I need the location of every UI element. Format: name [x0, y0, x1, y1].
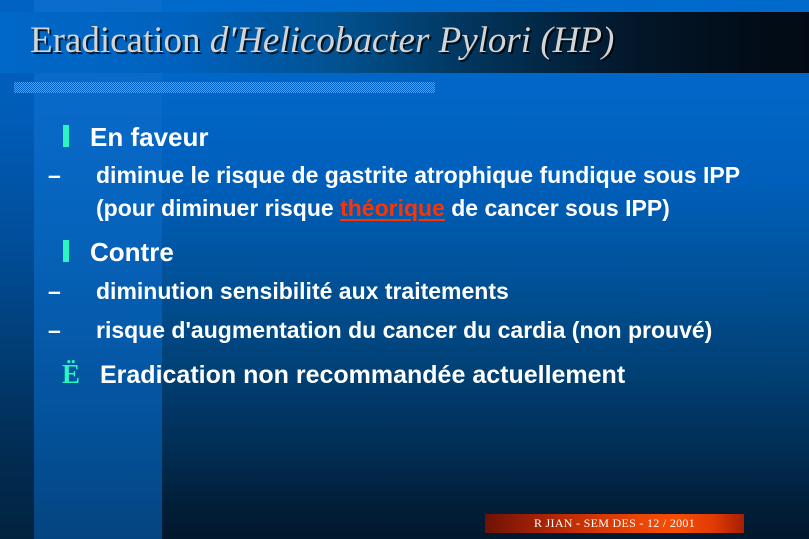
list-item: –risque d'augmentation du cancer du card…: [0, 314, 809, 347]
slide-title-lead: Eradication: [30, 20, 210, 61]
list-item: –diminution sensibilité aux traitements: [0, 275, 809, 308]
section-heading-label: En faveur: [90, 118, 209, 156]
slide-canvas: Eradication d'Helicobacter Pylori (HP) E…: [0, 0, 809, 539]
list-item: –diminue le risque de gastrite atrophiqu…: [0, 159, 809, 225]
section-heading-contre: Contre: [0, 233, 809, 271]
list-item-text-part: diminution sensibilité aux traitements: [96, 278, 509, 304]
section-heading-label: Contre: [90, 233, 174, 271]
dash-bullet-icon: –: [72, 159, 96, 192]
bar-bullet-icon: [63, 125, 69, 147]
title-underline-bar: [14, 82, 435, 93]
footer-credit-badge: R JIAN - SEM DES - 12 / 2001: [485, 514, 744, 533]
list-item-text-part: de cancer sous IPP): [445, 195, 670, 221]
wingdings-arrow-bullet-icon: Ë: [62, 356, 100, 392]
conclusion-line: ËEradication non recommandée actuellemen…: [0, 356, 809, 393]
section-heading-en-faveur: En faveur: [0, 118, 809, 156]
bar-bullet-icon: [63, 240, 69, 262]
dash-bullet-icon: –: [72, 314, 96, 347]
slide-content: En faveur –diminue le risque de gastrite…: [0, 118, 809, 393]
dash-bullet-icon: –: [72, 275, 96, 308]
highlighted-term: théorique: [340, 195, 445, 221]
slide-title: Eradication d'Helicobacter Pylori (HP): [30, 16, 790, 66]
conclusion-text: Eradication non recommandée actuellement: [100, 361, 625, 389]
list-item-text-part: risque d'augmentation du cancer du cardi…: [96, 317, 712, 343]
slide-title-emphasis: d'Helicobacter Pylori (HP): [210, 20, 615, 61]
